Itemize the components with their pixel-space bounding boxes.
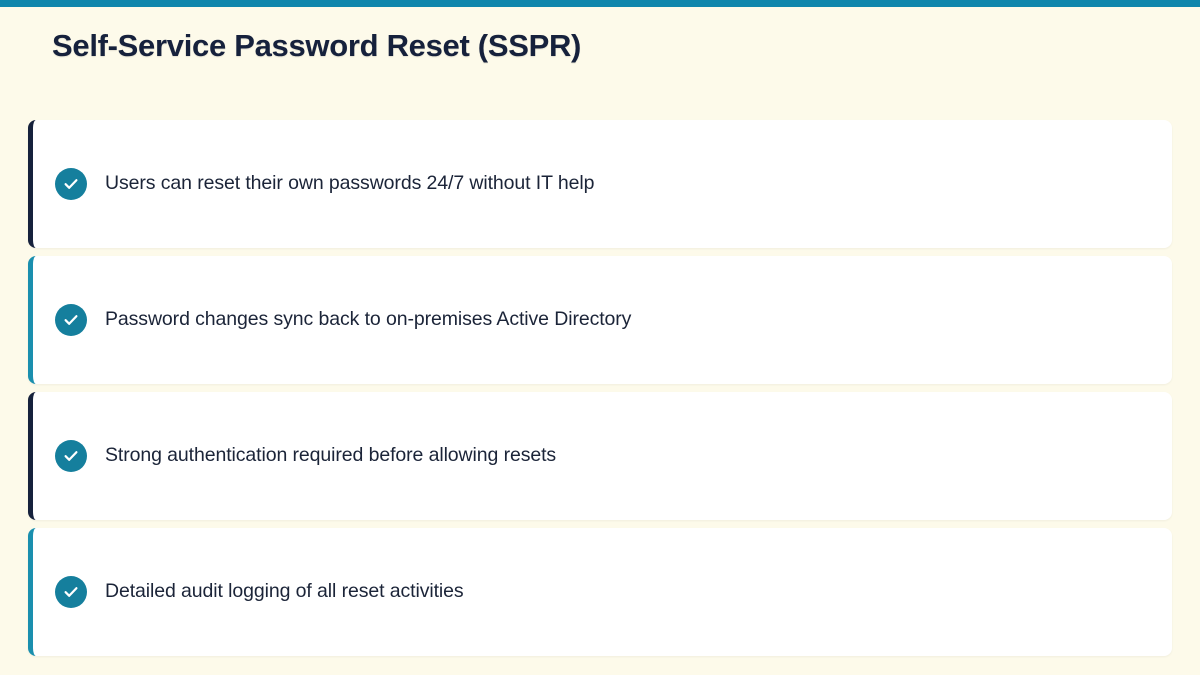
list-item[interactable]: Password changes sync back to on-premise… bbox=[28, 256, 1172, 384]
check-circle-icon bbox=[55, 168, 87, 200]
list-item-label: Users can reset their own passwords 24/7… bbox=[105, 171, 594, 196]
list-item-label: Password changes sync back to on-premise… bbox=[105, 307, 631, 332]
list-item[interactable]: Strong authentication required before al… bbox=[28, 392, 1172, 520]
list-item-label: Detailed audit logging of all reset acti… bbox=[105, 579, 464, 604]
top-accent-bar bbox=[0, 0, 1200, 7]
list-item[interactable]: Detailed audit logging of all reset acti… bbox=[28, 528, 1172, 656]
list-item-label: Strong authentication required before al… bbox=[105, 443, 556, 468]
feature-card-list: Users can reset their own passwords 24/7… bbox=[28, 120, 1172, 656]
check-circle-icon bbox=[55, 304, 87, 336]
list-item[interactable]: Users can reset their own passwords 24/7… bbox=[28, 120, 1172, 248]
check-circle-icon bbox=[55, 440, 87, 472]
check-circle-icon bbox=[55, 576, 87, 608]
slide-root: Self-Service Password Reset (SSPR) Users… bbox=[0, 0, 1200, 675]
page-title: Self-Service Password Reset (SSPR) bbox=[52, 28, 581, 64]
